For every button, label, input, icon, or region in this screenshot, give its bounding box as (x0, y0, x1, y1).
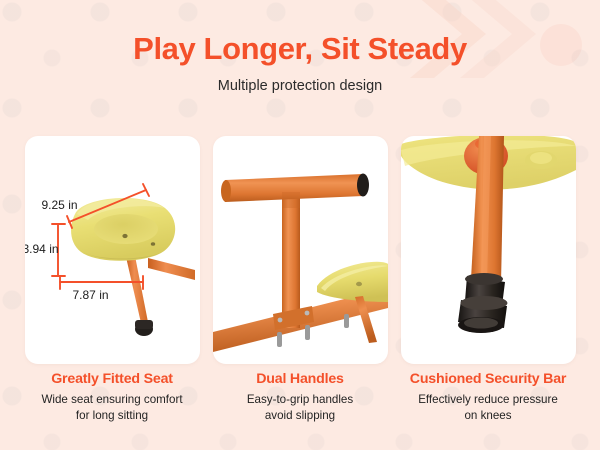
feature-card-row: 9.25 in 3.94 in 7.87 in (0, 136, 600, 364)
caption-title: Dual Handles (213, 372, 388, 386)
product-photo-foot-cap (401, 136, 576, 364)
caption-line-1: Easy-to-grip handles (213, 392, 388, 407)
caption-title: Greatly Fitted Seat (25, 372, 200, 386)
dimension-label-top-width: 9.25 in (42, 198, 78, 212)
caption-row: Greatly Fitted Seat Wide seat ensuring c… (0, 372, 600, 423)
caption-line-2: avoid slipping (213, 408, 388, 423)
caption-line-2: for long sitting (25, 408, 200, 423)
feature-card-cushioned-security-bar (401, 136, 576, 364)
caption-dual-handles: Dual Handles Easy-to-grip handles avoid … (213, 372, 388, 423)
caption-cushioned-security-bar: Cushioned Security Bar Effectively reduc… (401, 372, 576, 423)
feature-card-dual-handles (213, 136, 388, 364)
caption-line-1: Effectively reduce pressure (401, 392, 576, 407)
caption-line-2: on knees (401, 408, 576, 423)
dimension-label-bottom-width: 7.87 in (73, 288, 109, 302)
caption-line-1: Wide seat ensuring comfort (25, 392, 200, 407)
product-photo-handlebar (213, 136, 388, 364)
feature-card-greatly-fitted-seat: 9.25 in 3.94 in 7.87 in (25, 136, 200, 364)
caption-title: Cushioned Security Bar (401, 372, 576, 386)
dimension-label-height: 3.94 in (25, 242, 59, 256)
header: Play Longer, Sit Steady Multiple protect… (0, 0, 600, 94)
page-subtitle: Multiple protection design (0, 79, 600, 94)
caption-greatly-fitted-seat: Greatly Fitted Seat Wide seat ensuring c… (25, 372, 200, 423)
page-title: Play Longer, Sit Steady (0, 33, 600, 64)
